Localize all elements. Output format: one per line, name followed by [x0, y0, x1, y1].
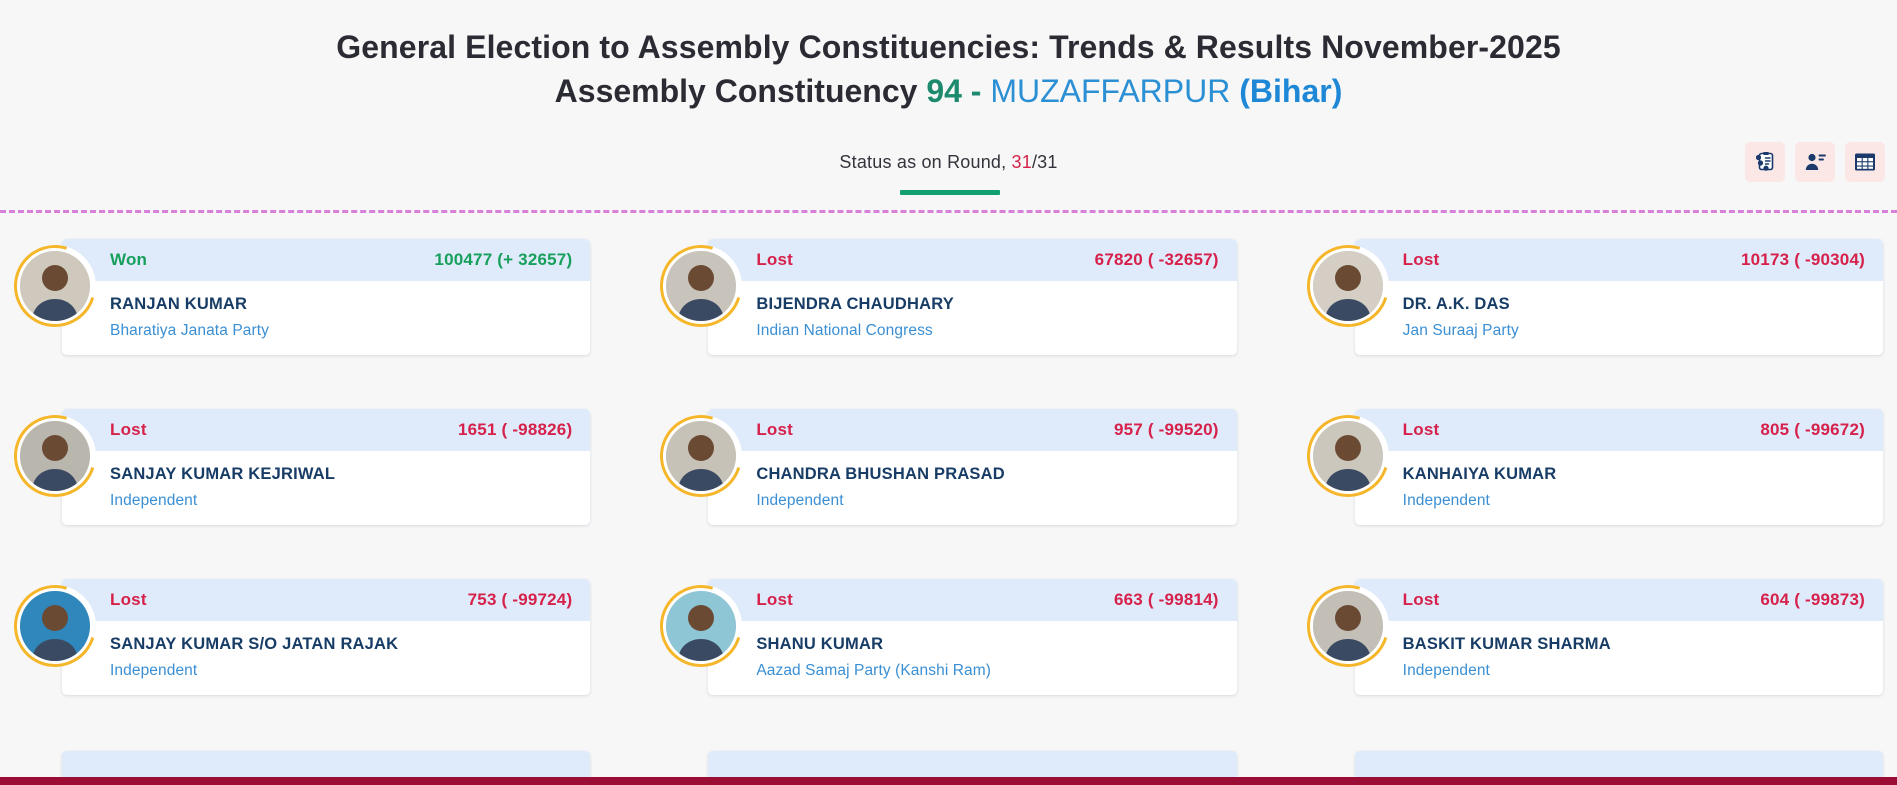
candidate-name: CHANDRA BHUSHAN PRASAD [756, 465, 1218, 485]
vote-count: 805 ( -99672) [1760, 420, 1865, 440]
candidate-name: RANJAN KUMAR [110, 295, 572, 315]
constituency-number: 94 [926, 73, 962, 109]
candidate-card-body: BASKIT KUMAR SHARMAIndependent [1355, 621, 1883, 680]
candidate-card[interactable]: Lost805 ( -99672)KANHAIYA KUMARIndepende… [1307, 409, 1883, 551]
vote-count: 663 ( -99814) [1114, 590, 1219, 610]
candidate-card[interactable]: Lost753 ( -99724)SANJAY KUMAR S/O JATAN … [14, 579, 590, 721]
round-status-prefix: Status as on Round, [839, 152, 1011, 172]
candidate-card-inner[interactable]: Lost957 ( -99520)CHANDRA BHUSHAN PRASADI… [708, 409, 1236, 525]
state-name: (Bihar) [1239, 73, 1342, 109]
candidate-card-header: Lost1651 ( -98826) [62, 409, 590, 451]
candidate-name: BIJENDRA CHAUDHARY [756, 295, 1218, 315]
avatar [660, 245, 742, 327]
vote-count: 10173 ( -90304) [1741, 250, 1865, 270]
round-wise-results-button[interactable] [1745, 142, 1785, 182]
candidate-party[interactable]: Independent [1403, 662, 1865, 680]
result-status: Lost [1403, 590, 1440, 610]
candidate-card[interactable]: Lost663 ( -99814)SHANU KUMARAazad Samaj … [660, 579, 1236, 721]
tabular-view-button[interactable] [1845, 142, 1885, 182]
result-status: Won [110, 250, 147, 270]
avatar [660, 585, 742, 667]
candidate-card-body: RANJAN KUMARBharatiya Janata Party [62, 281, 590, 340]
candidate-party[interactable]: Aazad Samaj Party (Kanshi Ram) [756, 662, 1218, 680]
vote-count: 957 ( -99520) [1114, 420, 1219, 440]
candidate-card-header: Lost753 ( -99724) [62, 579, 590, 621]
page-header: General Election to Assembly Constituenc… [0, 0, 1897, 112]
candidate-name: SANJAY KUMAR KEJRIWAL [110, 465, 572, 485]
card-stub [62, 751, 590, 777]
candidate-card[interactable]: Won100477 (+ 32657)RANJAN KUMARBharatiya… [14, 239, 590, 381]
candidate-card-body: SANJAY KUMAR S/O JATAN RAJAKIndependent [62, 621, 590, 680]
avatar [1307, 585, 1389, 667]
avatar [14, 585, 96, 667]
next-row-preview [0, 751, 1897, 777]
candidate-card[interactable]: Lost957 ( -99520)CHANDRA BHUSHAN PRASADI… [660, 409, 1236, 551]
candidate-card[interactable]: Lost604 ( -99873)BASKIT KUMAR SHARMAInde… [1307, 579, 1883, 721]
candidate-wise-results-button[interactable] [1795, 142, 1835, 182]
result-status: Lost [756, 250, 793, 270]
avatar [660, 415, 742, 497]
bottom-bar [0, 777, 1897, 785]
candidate-photo [20, 421, 90, 491]
clipboard-list-icon [1753, 150, 1777, 174]
avatar [14, 245, 96, 327]
candidate-name: SHANU KUMAR [756, 635, 1218, 655]
round-total: 31 [1037, 152, 1057, 172]
vote-count: 100477 (+ 32657) [434, 250, 572, 270]
candidate-card-header: Won100477 (+ 32657) [62, 239, 590, 281]
candidate-name: KANHAIYA KUMAR [1403, 465, 1865, 485]
card-stub [1355, 751, 1883, 777]
vote-count: 604 ( -99873) [1760, 590, 1865, 610]
constituency-dash: - [962, 73, 990, 109]
candidate-card-inner[interactable]: Lost663 ( -99814)SHANU KUMARAazad Samaj … [708, 579, 1236, 695]
candidate-card-header: Lost957 ( -99520) [708, 409, 1236, 451]
avatar [14, 415, 96, 497]
candidate-party[interactable]: Independent [1403, 492, 1865, 510]
candidate-card-inner[interactable]: Won100477 (+ 32657)RANJAN KUMARBharatiya… [62, 239, 590, 355]
result-status: Lost [1403, 250, 1440, 270]
candidate-card[interactable]: Lost10173 ( -90304)DR. A.K. DASJan Suraa… [1307, 239, 1883, 381]
round-status: Status as on Round, 31/31 [0, 152, 1897, 173]
candidate-photo [20, 591, 90, 661]
round-current: 31 [1012, 152, 1032, 172]
card-stub [708, 751, 1236, 777]
candidate-card-body: SHANU KUMARAazad Samaj Party (Kanshi Ram… [708, 621, 1236, 680]
candidate-card-body: DR. A.K. DASJan Suraaj Party [1355, 281, 1883, 340]
candidate-card[interactable]: Lost67820 ( -32657)BIJENDRA CHAUDHARYInd… [660, 239, 1236, 381]
candidate-card-body: SANJAY KUMAR KEJRIWALIndependent [62, 451, 590, 510]
candidate-card-inner[interactable]: Lost1651 ( -98826)SANJAY KUMAR KEJRIWALI… [62, 409, 590, 525]
vote-count: 67820 ( -32657) [1095, 250, 1219, 270]
candidate-card-inner[interactable]: Lost604 ( -99873)BASKIT KUMAR SHARMAInde… [1355, 579, 1883, 695]
candidate-card-inner[interactable]: Lost753 ( -99724)SANJAY KUMAR S/O JATAN … [62, 579, 590, 695]
candidate-party[interactable]: Jan Suraaj Party [1403, 322, 1865, 340]
result-status: Lost [110, 590, 147, 610]
constituency-title: Assembly Constituency 94 - MUZAFFARPUR (… [0, 70, 1897, 112]
candidate-card-header: Lost10173 ( -90304) [1355, 239, 1883, 281]
constituency-prefix: Assembly Constituency [555, 73, 927, 109]
result-status: Lost [756, 590, 793, 610]
candidate-photo [1313, 591, 1383, 661]
result-status: Lost [110, 420, 147, 440]
results-page: General Election to Assembly Constituenc… [0, 0, 1897, 785]
candidate-card-header: Lost805 ( -99672) [1355, 409, 1883, 451]
candidate-card-body: KANHAIYA KUMARIndependent [1355, 451, 1883, 510]
candidate-card-header: Lost604 ( -99873) [1355, 579, 1883, 621]
candidate-card-body: BIJENDRA CHAUDHARYIndian National Congre… [708, 281, 1236, 340]
result-status: Lost [756, 420, 793, 440]
candidate-name: BASKIT KUMAR SHARMA [1403, 635, 1865, 655]
candidate-party[interactable]: Indian National Congress [756, 322, 1218, 340]
candidate-card-header: Lost663 ( -99814) [708, 579, 1236, 621]
candidate-card-inner[interactable]: Lost805 ( -99672)KANHAIYA KUMARIndepende… [1355, 409, 1883, 525]
constituency-name: MUZAFFARPUR [990, 73, 1230, 109]
vote-count: 753 ( -99724) [468, 590, 573, 610]
candidate-card[interactable]: Lost1651 ( -98826)SANJAY KUMAR KEJRIWALI… [14, 409, 590, 551]
candidate-party[interactable]: Independent [756, 492, 1218, 510]
candidate-name: SANJAY KUMAR S/O JATAN RAJAK [110, 635, 572, 655]
candidate-card-inner[interactable]: Lost67820 ( -32657)BIJENDRA CHAUDHARYInd… [708, 239, 1236, 355]
avatar [1307, 245, 1389, 327]
vote-count: 1651 ( -98826) [458, 420, 572, 440]
candidate-party[interactable]: Independent [110, 662, 572, 680]
candidate-grid: Won100477 (+ 32657)RANJAN KUMARBharatiya… [0, 239, 1897, 721]
candidate-party[interactable]: Bharatiya Janata Party [110, 322, 572, 340]
section-divider [0, 210, 1897, 213]
status-row: Status as on Round, 31/31 [0, 142, 1897, 202]
page-title: General Election to Assembly Constituenc… [0, 26, 1897, 68]
candidate-name: DR. A.K. DAS [1403, 295, 1865, 315]
candidate-card-inner[interactable]: Lost10173 ( -90304)DR. A.K. DASJan Suraa… [1355, 239, 1883, 355]
result-status: Lost [1403, 420, 1440, 440]
avatar [1307, 415, 1389, 497]
candidate-photo [1313, 251, 1383, 321]
candidate-card-body: CHANDRA BHUSHAN PRASADIndependent [708, 451, 1236, 510]
candidate-photo [1313, 421, 1383, 491]
grid-table-icon [1853, 150, 1877, 174]
candidate-party[interactable]: Independent [110, 492, 572, 510]
candidate-icon [1803, 150, 1827, 174]
view-toolbar [1745, 142, 1885, 182]
candidate-card-header: Lost67820 ( -32657) [708, 239, 1236, 281]
candidate-photo [20, 251, 90, 321]
